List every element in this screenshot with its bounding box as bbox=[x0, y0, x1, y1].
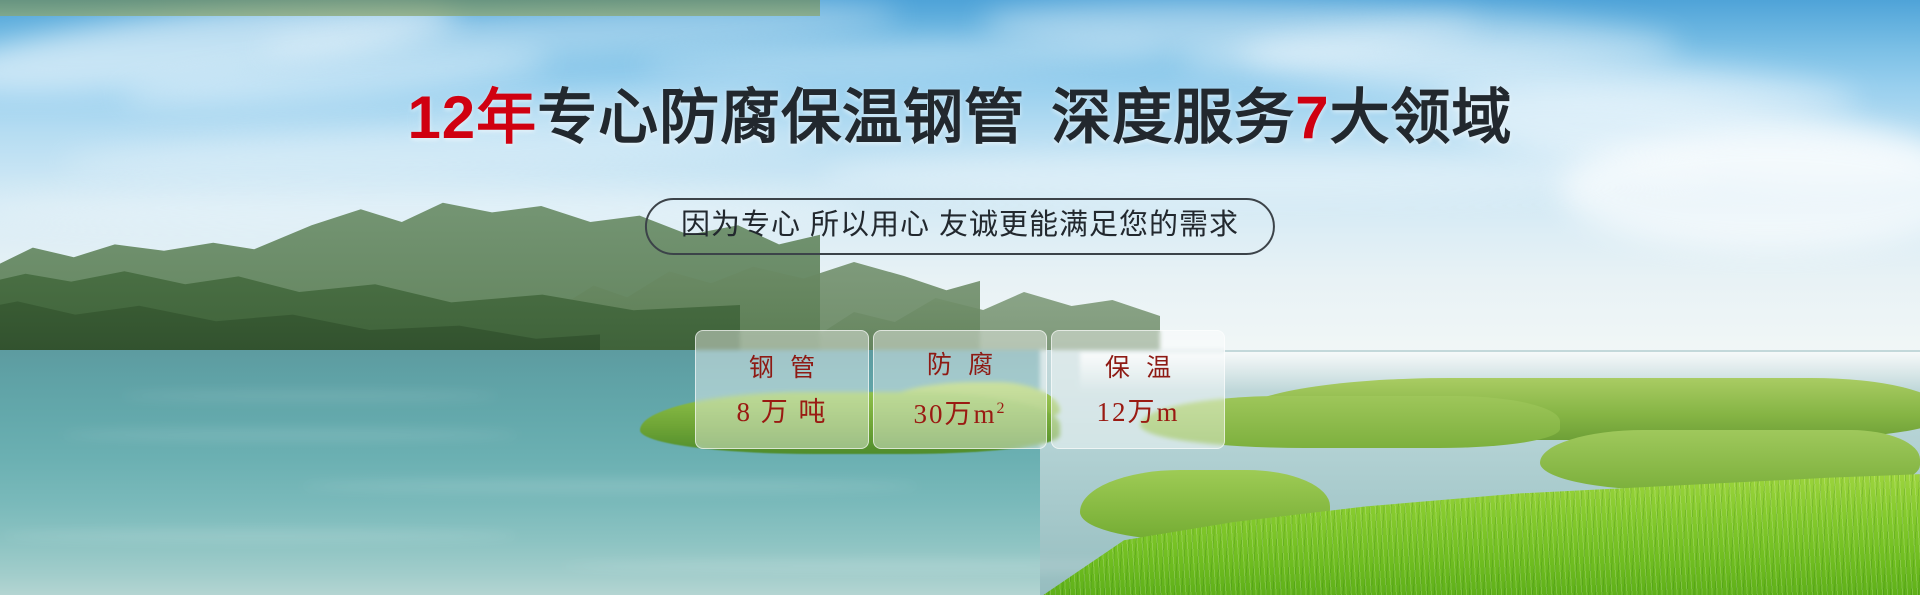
stat-value-text: 30万m bbox=[913, 399, 996, 429]
water-ripple bbox=[300, 480, 920, 492]
stat-value: 12万m bbox=[1096, 396, 1179, 428]
far-shoreline bbox=[0, 0, 820, 16]
headline-years: 12年 bbox=[407, 84, 537, 151]
headline-service: 深度服务 bbox=[1051, 84, 1295, 151]
subtitle-text: 因为专心 所以用心 友诚更能满足您的需求 bbox=[681, 209, 1239, 241]
water-ripple bbox=[120, 392, 500, 400]
water-ripple bbox=[60, 430, 520, 440]
water-ripple bbox=[0, 530, 520, 542]
headline-fields-count: 7 bbox=[1295, 84, 1329, 151]
stat-card-steel-pipe: 钢 管 8 万 吨 bbox=[695, 330, 869, 449]
promo-banner: 12年专心防腐保温钢管深度服务7大领域 因为专心 所以用心 友诚更能满足您的需求… bbox=[0, 0, 1920, 595]
stat-card-anticorrosion: 防 腐 30万m2 bbox=[873, 330, 1047, 449]
subtitle-pill: 因为专心 所以用心 友诚更能满足您的需求 bbox=[645, 198, 1275, 255]
stat-label: 保 温 bbox=[1100, 352, 1176, 386]
stat-value: 8 万 吨 bbox=[737, 396, 828, 428]
stat-card-group: 钢 管 8 万 吨 防 腐 30万m2 保 温 12万m bbox=[695, 330, 1225, 449]
stat-value-text: 12万m bbox=[1096, 397, 1179, 427]
stat-label: 钢 管 bbox=[744, 352, 820, 386]
headline-fields: 大领域 bbox=[1330, 84, 1513, 151]
stat-label: 防 腐 bbox=[922, 349, 998, 383]
cloud-streak bbox=[820, 150, 1720, 200]
stat-value: 30万m2 bbox=[913, 393, 1006, 430]
headline-main: 专心防腐保温钢管 bbox=[537, 84, 1025, 151]
banner-headline: 12年专心防腐保温钢管深度服务7大领域 bbox=[0, 86, 1920, 150]
stat-card-insulation: 保 温 12万m bbox=[1051, 330, 1225, 449]
stat-value-text: 8 万 吨 bbox=[737, 397, 828, 427]
stat-value-superscript: 2 bbox=[997, 400, 1007, 417]
